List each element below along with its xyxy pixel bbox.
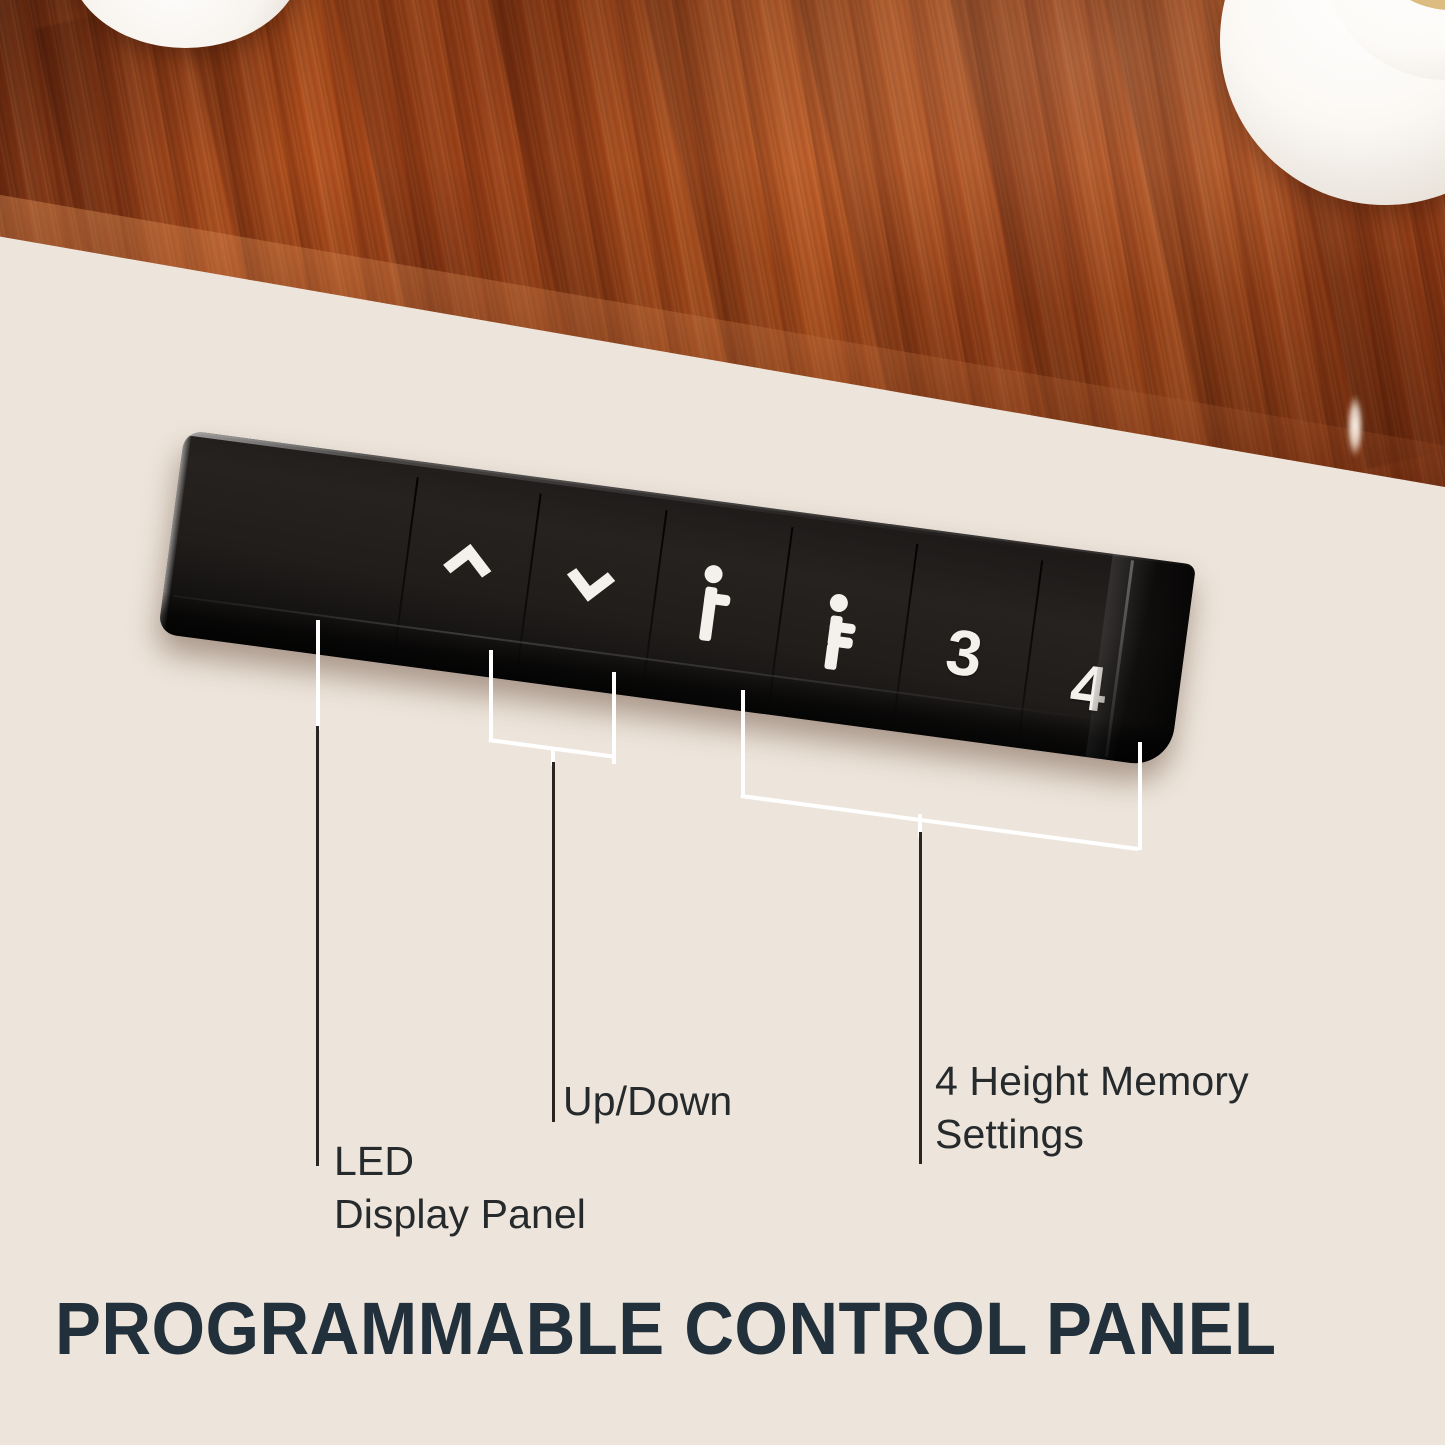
control-panel[interactable]: 3 4 xyxy=(158,430,1196,768)
chevron-down-icon xyxy=(556,553,623,620)
chevron-up-icon xyxy=(435,527,502,594)
callout-led-display-panel: LED Display Panel xyxy=(334,1135,586,1242)
standing-person-icon xyxy=(684,561,747,651)
leader-line-led-lower xyxy=(316,726,319,1166)
leader-line-led-upper xyxy=(316,620,320,730)
leader-bracket-memory-right xyxy=(1138,742,1142,850)
callout-height-memory: 4 Height Memory Settings xyxy=(935,1055,1249,1162)
leader-bracket-updown-left xyxy=(489,650,493,742)
memory-preset-3-label: 3 xyxy=(942,619,986,687)
desk-highlight-glint xyxy=(1347,395,1363,457)
control-panel-assembly: 3 4 xyxy=(120,430,1265,1060)
product-photo-scene: 3 4 LED Display Panel Up/Down 4 Height M… xyxy=(0,0,1445,1445)
leader-bracket-updown-right xyxy=(612,672,616,764)
callout-up-down: Up/Down xyxy=(563,1075,732,1128)
leader-bracket-memory-left xyxy=(741,690,745,798)
page-title: PROGRAMMABLE CONTROL PANEL xyxy=(55,1292,1277,1366)
leader-stem-updown xyxy=(552,762,555,1122)
sitting-person-icon xyxy=(810,590,873,680)
leader-stem-memory xyxy=(919,832,922,1164)
desk-top-surface xyxy=(0,0,1445,500)
